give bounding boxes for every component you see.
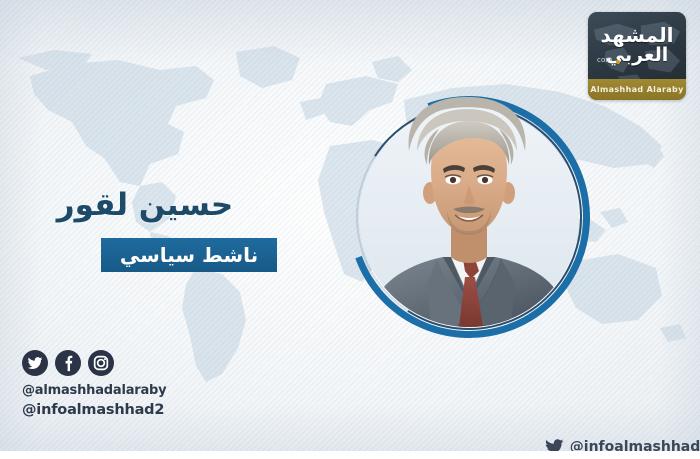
logo-com-label: com: [597, 56, 613, 64]
social-handle-primary[interactable]: @almashhadalaraby: [22, 382, 252, 400]
facebook-icon[interactable]: [55, 350, 81, 376]
promo-card: حسين لقور ناشط سياسي المشهد العربي com A…: [0, 0, 700, 459]
twitter-icon[interactable]: [22, 350, 48, 376]
page-title: حسين لقور: [0, 188, 290, 222]
bottom-white-strip: [0, 451, 700, 459]
portrait-hair-overflow: [387, 91, 547, 151]
brand-logo[interactable]: المشهد العربي com Almashhad Alaraby: [588, 12, 686, 100]
logo-latin-brand: Almashhad Alaraby: [588, 79, 686, 100]
status-badge: ناشط سياسي: [101, 238, 277, 272]
logo-arabic-line1: المشهد: [588, 25, 686, 46]
portrait-photo-clip: [359, 107, 579, 327]
logo-dot-accent: [616, 60, 620, 64]
social-block: @almashhadalaraby @infoalmashhad2: [22, 350, 252, 421]
social-handle-secondary[interactable]: @infoalmashhad2: [22, 400, 252, 421]
portrait-circle: [352, 100, 586, 334]
social-icon-row: [22, 350, 252, 376]
instagram-icon[interactable]: [88, 350, 114, 376]
